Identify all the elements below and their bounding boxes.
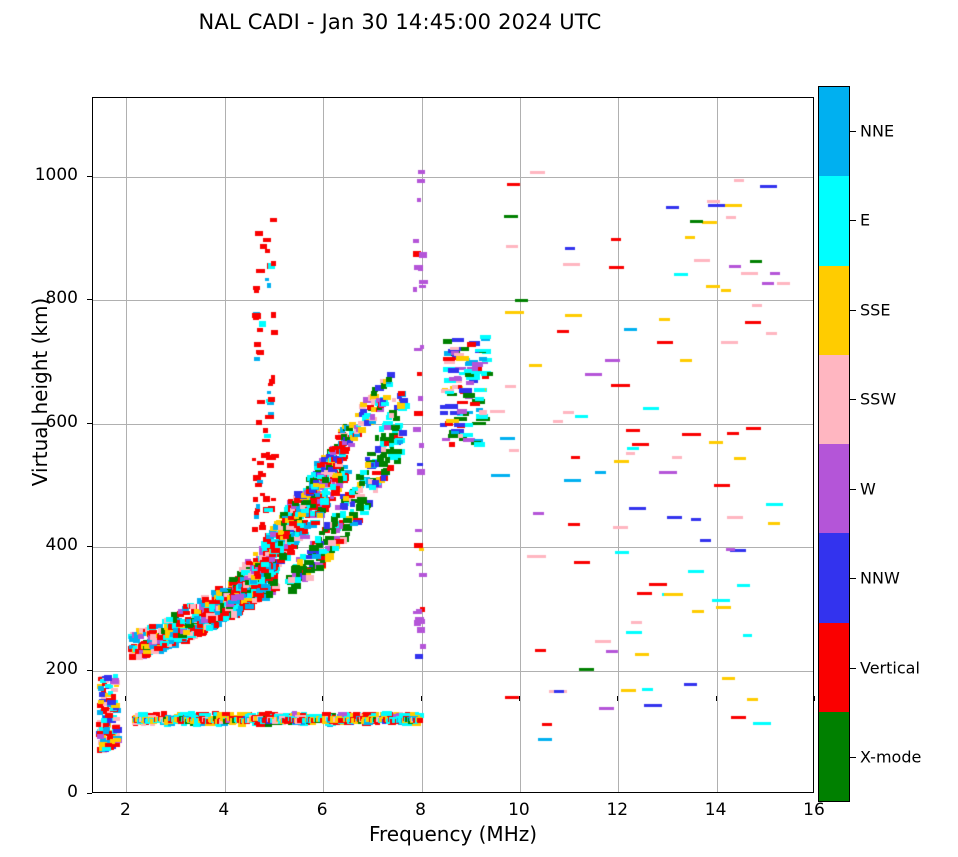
x-tick: [125, 696, 126, 701]
colorbar-tick: [850, 489, 856, 490]
colorbar-segment-w: [819, 444, 849, 533]
colorbar-segment-x-mode: [819, 712, 849, 801]
y-tick: [87, 546, 92, 547]
colorbar-segment-nne: [819, 87, 849, 176]
colorbar-segment-ssw: [819, 355, 849, 444]
colorbar-segment-vertical: [819, 623, 849, 712]
y-tick-label: 400: [18, 535, 78, 555]
colorbar-ticks: NNEESSESSWWNNWVerticalX-mode: [850, 86, 958, 802]
colorbar-segment-e: [819, 176, 849, 265]
x-tick: [617, 696, 618, 701]
colorbar-tick: [850, 399, 856, 400]
y-tick: [87, 793, 92, 794]
colorbar-segment-sse: [819, 266, 849, 355]
x-tick: [519, 696, 520, 701]
y-tick-label: 200: [18, 659, 78, 679]
scatter-canvas: [93, 98, 815, 794]
x-tick-label: 14: [694, 800, 738, 820]
colorbar-tick: [850, 131, 856, 132]
colorbar-label-x-mode: X-mode: [860, 748, 921, 767]
colorbar-label-e: E: [860, 211, 870, 230]
y-tick: [87, 670, 92, 671]
colorbar-segment-nnw: [819, 533, 849, 622]
colorbar-tick: [850, 310, 856, 311]
colorbar-label-vertical: Vertical: [860, 658, 920, 677]
colorbar-tick: [850, 668, 856, 669]
x-tick-label: 16: [792, 800, 836, 820]
x-tick-label: 2: [103, 800, 147, 820]
page-title: NAL CADI - Jan 30 14:45:00 2024 UTC: [0, 10, 800, 34]
x-tick: [814, 696, 815, 701]
colorbar: [818, 86, 850, 802]
x-tick-label: 12: [595, 800, 639, 820]
x-tick-label: 4: [202, 800, 246, 820]
y-tick-label: 1000: [18, 165, 78, 185]
x-tick: [716, 696, 717, 701]
colorbar-label-nnw: NNW: [860, 569, 900, 588]
y-tick: [87, 299, 92, 300]
x-axis-label: Frequency (MHz): [92, 822, 814, 846]
colorbar-label-sse: SSE: [860, 300, 890, 319]
x-tick-label: 8: [399, 800, 443, 820]
y-axis-label: Virtual height (km): [28, 272, 52, 512]
y-tick-label: 0: [18, 782, 78, 802]
colorbar-label-w: W: [860, 479, 876, 498]
x-tick-label: 10: [497, 800, 541, 820]
y-tick: [87, 176, 92, 177]
x-tick: [322, 696, 323, 701]
x-tick: [224, 696, 225, 701]
plot-area: [92, 97, 814, 793]
colorbar-tick: [850, 220, 856, 221]
ionogram-figure: NAL CADI - Jan 30 14:45:00 2024 UTC 2468…: [0, 0, 958, 857]
colorbar-label-ssw: SSW: [860, 390, 896, 409]
x-tick: [421, 696, 422, 701]
colorbar-label-nne: NNE: [860, 121, 894, 140]
y-tick: [87, 423, 92, 424]
colorbar-tick: [850, 578, 856, 579]
x-tick-label: 6: [300, 800, 344, 820]
colorbar-tick: [850, 757, 856, 758]
